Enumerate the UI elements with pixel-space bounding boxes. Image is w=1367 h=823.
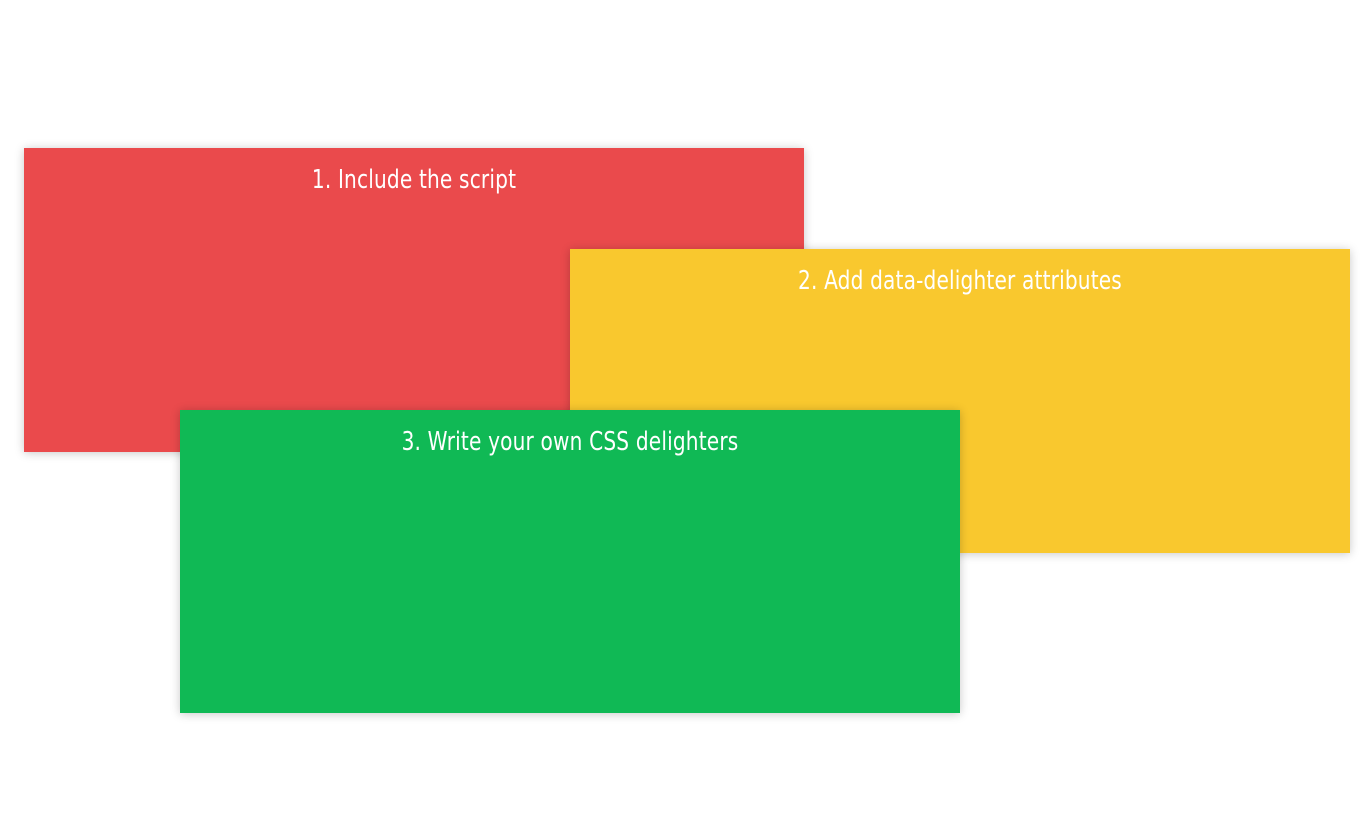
panel-step-1-title: 1. Include the script — [79, 148, 750, 195]
panel-stage: 1. Include the script 2. Add data-deligh… — [0, 0, 1367, 823]
panel-step-3-title: 3. Write your own CSS delighters — [235, 410, 906, 457]
panel-step-2-title: 2. Add data-delighter attributes — [625, 249, 1296, 296]
panel-step-3: 3. Write your own CSS delighters — [180, 410, 960, 713]
